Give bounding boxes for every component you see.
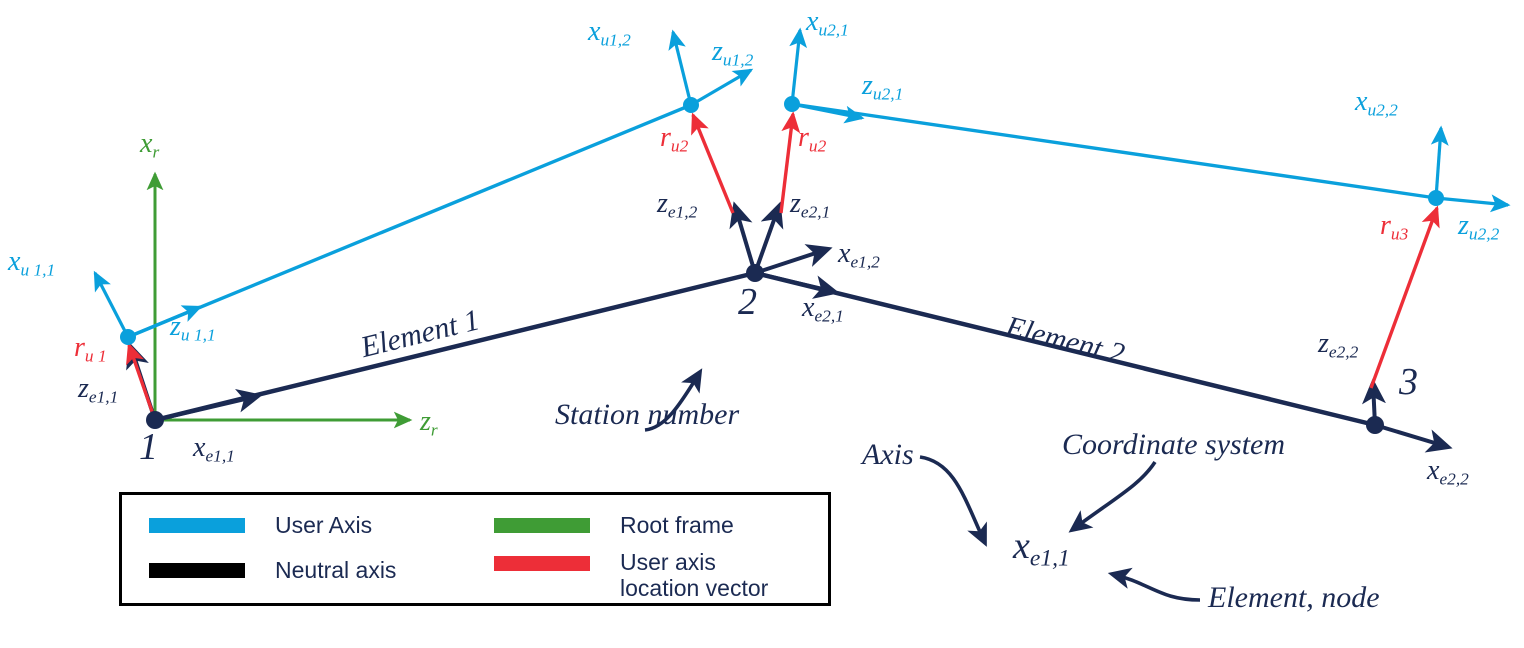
legend-swatch-neutral-axis	[149, 563, 245, 578]
legend-item-location-vector: User axis location vector	[494, 550, 768, 602]
station-number-1: 1	[139, 428, 158, 466]
annotation-element-node: Element, node	[1208, 583, 1380, 613]
callout-coordinate-system	[1072, 462, 1155, 530]
station-dot-3	[1366, 416, 1384, 434]
label-x-u-1-2: xu1,2	[588, 18, 631, 49]
location-vector-r-u-2-left	[693, 115, 733, 213]
neutral-axis-beams	[155, 273, 1375, 425]
label-z-e-2-1: ze2,1	[790, 190, 830, 221]
label-z-u-2-1: zu2,1	[862, 72, 903, 103]
label-z-e-2-2: ze2,2	[1318, 330, 1358, 361]
label-r-u-1: ru 1	[74, 334, 107, 365]
label-x-u-2-1: xu2,1	[806, 8, 849, 39]
user-origin-dot-2-1	[784, 96, 800, 112]
axis-x-u-1-1	[95, 273, 128, 337]
node-3-user-axes	[1428, 128, 1508, 206]
axis-z-u-1-2	[691, 70, 751, 105]
user-origin-dot-1-1	[120, 329, 136, 345]
callout-axis	[920, 457, 985, 543]
root-frame-x-label: xr	[140, 130, 159, 161]
user-origin-dot-2-2	[1428, 190, 1444, 206]
user-axis-beams	[128, 104, 1436, 337]
station-dot-2	[746, 264, 764, 282]
user-origin-dot-1-2	[683, 97, 699, 113]
label-r-u-3: ru3	[1380, 212, 1408, 243]
annotation-callout-symbol: xe1,1	[1013, 527, 1070, 571]
station-number-2: 2	[738, 283, 757, 321]
legend-item-root-frame: Root frame	[494, 513, 734, 539]
axis-z-u-2-2	[1436, 198, 1508, 205]
legend-label-location-vector-line2: location vector	[620, 575, 768, 601]
label-x-e-1-2: xe1,2	[838, 240, 880, 271]
axis-x-e-1-1	[155, 396, 258, 420]
annotation-coordinate-system: Coordinate system	[1062, 430, 1285, 460]
label-x-e-2-2: xe2,2	[1427, 457, 1469, 488]
legend-swatch-user-axis	[149, 518, 245, 533]
axis-x-u-2-1	[792, 30, 800, 104]
root-frame-z-label: zr	[420, 408, 438, 439]
legend-item-neutral-axis: Neutral axis	[149, 558, 396, 584]
callout-element-node	[1112, 574, 1200, 600]
label-r-u-2-left: ru2	[660, 124, 688, 155]
axis-x-u-2-2	[1436, 128, 1441, 198]
legend-label-location-vector-line1: User axis	[620, 549, 716, 575]
root-frame-axes	[155, 174, 410, 420]
label-z-u-1-1: zu 1,1	[170, 313, 216, 344]
annotation-station-number: Station number	[555, 400, 739, 430]
label-x-u-1-1: xu 1,1	[8, 248, 55, 279]
legend-item-user-axis: User Axis	[149, 513, 372, 539]
location-vector-r-u-1	[129, 345, 155, 420]
user-beam-element-2	[792, 104, 1436, 198]
legend-label-neutral-axis: Neutral axis	[275, 558, 396, 584]
station-number-3: 3	[1399, 363, 1418, 401]
axis-x-u-1-2	[673, 32, 691, 105]
legend-label-root-frame: Root frame	[620, 513, 734, 539]
label-z-u-1-2: zu1,2	[712, 38, 753, 69]
label-r-u-2-right: ru2	[798, 124, 826, 155]
node-2-user-axes-2-1	[784, 30, 862, 118]
annotation-axis: Axis	[862, 440, 914, 470]
label-x-e-1-1: xe1,1	[193, 434, 235, 465]
label-x-e-2-1: xe2,1	[802, 294, 844, 325]
legend-swatch-location-vector	[494, 556, 590, 571]
axis-x-e-2-1	[755, 273, 835, 292]
diagram-canvas: xr zr 1 2 3 Element 1 Element 2 xe1,1 ze…	[0, 0, 1524, 648]
label-z-e-1-2: ze1,2	[657, 190, 697, 221]
axis-x-e-1-2	[755, 249, 828, 273]
label-z-u-2-2: zu2,2	[1458, 212, 1499, 243]
legend-label-user-axis: User Axis	[275, 513, 372, 539]
legend-label-location-vector: User axis location vector	[620, 550, 768, 602]
label-x-u-2-2: xu2,2	[1355, 88, 1398, 119]
axis-z-e-2-1	[755, 206, 779, 273]
label-z-e-1-1: ze1,1	[78, 375, 118, 406]
legend-swatch-root-frame	[494, 518, 590, 533]
axis-x-e-2-2	[1375, 425, 1448, 447]
legend: User Axis Neutral axis Root frame User a…	[119, 492, 831, 606]
user-beam-element-1	[128, 105, 691, 337]
axis-z-e-1-2	[735, 206, 755, 273]
